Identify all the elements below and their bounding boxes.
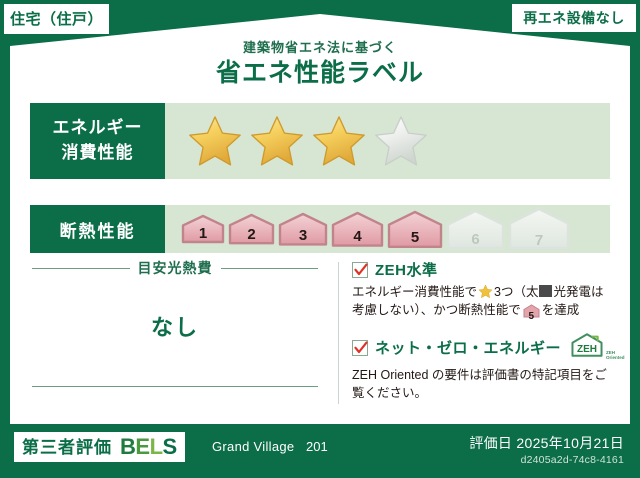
star-filled-icon bbox=[187, 114, 243, 168]
insulation-grade-chip: 1 bbox=[181, 214, 225, 244]
zeh-desc-part4: を達成 bbox=[542, 303, 580, 317]
insulation-grade-chip: 2 bbox=[228, 213, 275, 245]
zeh-standard-checkbox[interactable] bbox=[352, 262, 368, 278]
net-zero-energy-checkbox[interactable] bbox=[352, 340, 368, 356]
label-footer: 第三者評価 BELS Grand Village 201 評価日 2025年10… bbox=[0, 424, 640, 478]
zeh-desc-part2: 3つ（太 bbox=[494, 285, 538, 299]
zeh-standard-header: ZEH水準 bbox=[352, 259, 614, 280]
heading-rule-left bbox=[32, 268, 130, 269]
insulation-performance-row: 断熱性能 1234567 bbox=[30, 205, 610, 253]
star-filled-icon bbox=[311, 114, 367, 168]
bels-badge: 第三者評価 BELS bbox=[14, 432, 185, 462]
utility-cost-heading-text: 目安光熱費 bbox=[138, 258, 213, 278]
insulation-grade-number: 7 bbox=[508, 233, 570, 248]
insulation-grade-number: 5 bbox=[387, 230, 443, 245]
star-rating-meter bbox=[165, 103, 610, 179]
energy-label-line1: エネルギー bbox=[53, 116, 143, 141]
utility-cost-value: なし bbox=[32, 310, 318, 342]
building-name: Grand Village bbox=[212, 439, 294, 454]
insulation-grade-chip: 7 bbox=[508, 207, 570, 250]
energy-performance-row: エネルギー 消費性能 bbox=[30, 103, 610, 179]
star-empty-icon bbox=[373, 114, 429, 168]
bels-logo: BELS bbox=[120, 436, 177, 458]
energy-performance-label: 住宅（住戸） 再エネ設備なし 建築物省エネ法に基づく 省エネ性能ラベル エネルギ… bbox=[0, 0, 640, 478]
insulation-grade-number: 1 bbox=[181, 226, 225, 241]
energy-label-line2: 消費性能 bbox=[62, 141, 134, 166]
bels-third-party-text: 第三者評価 bbox=[22, 439, 112, 456]
evaluation-date: 評価日 2025年10月21日 bbox=[469, 433, 624, 453]
inline-grade-number: 5 bbox=[523, 312, 540, 322]
insulation-performance-label: 断熱性能 bbox=[30, 205, 165, 253]
room-number: 201 bbox=[306, 439, 328, 454]
star-filled-icon bbox=[249, 114, 305, 168]
redacted-character bbox=[539, 285, 552, 297]
insulation-grade-number: 3 bbox=[278, 228, 328, 243]
zeh-logo: ZEH ZEH Oriented bbox=[570, 332, 625, 363]
zeh-logo-text: ZEH bbox=[570, 345, 604, 355]
insulation-grade-chip: 3 bbox=[278, 212, 328, 246]
section-divider bbox=[338, 262, 339, 404]
energy-performance-label: エネルギー 消費性能 bbox=[30, 103, 165, 179]
zeh-notes-block: ZEH水準 エネルギー消費性能で3つ（太光発電は考慮しない）、かつ断熱性能で5を… bbox=[352, 259, 614, 403]
badge-renewable-equipment: 再エネ設備なし bbox=[512, 4, 636, 32]
zeh-standard-title: ZEH水準 bbox=[375, 259, 438, 280]
heading-rule-right bbox=[221, 268, 319, 269]
zeh-standard-item: ZEH水準 エネルギー消費性能で3つ（太光発電は考慮しない）、かつ断熱性能で5を… bbox=[352, 259, 614, 323]
zeh-logo-subtext: ZEH Oriented bbox=[606, 350, 625, 363]
zeh-desc-part1: エネルギー消費性能で bbox=[352, 285, 477, 299]
net-zero-energy-title: ネット・ゼロ・エネルギー bbox=[375, 337, 561, 358]
utility-cost-block: 目安光熱費 なし bbox=[32, 258, 318, 342]
insulation-grade-number: 6 bbox=[446, 232, 505, 247]
insulation-grade-chip: 6 bbox=[446, 209, 505, 250]
net-zero-energy-description: ZEH Oriented の要件は評価書の特記項目をご覧ください。 bbox=[352, 366, 614, 402]
insulation-grade-number: 4 bbox=[331, 229, 384, 244]
inline-grade-chip: 5 bbox=[523, 304, 540, 323]
evaluation-id: d2405a2d-74c8-4161 bbox=[521, 454, 624, 466]
utility-cost-heading: 目安光熱費 bbox=[32, 258, 318, 278]
insulation-grade-chip: 5 bbox=[387, 210, 443, 249]
net-zero-energy-header: ネット・ゼロ・エネルギー ZEH ZEH Oriented bbox=[352, 332, 614, 363]
badge-building-type: 住宅（住戸） bbox=[4, 4, 109, 34]
insulation-grade-chip: 4 bbox=[331, 211, 384, 248]
zeh-logo-sub-line2: Oriented bbox=[606, 355, 625, 360]
utility-cost-underline bbox=[32, 386, 318, 387]
inline-star-icon bbox=[478, 284, 493, 299]
insulation-grade-meter: 1234567 bbox=[165, 205, 610, 253]
net-zero-energy-item: ネット・ゼロ・エネルギー ZEH ZEH Oriented ZEH bbox=[352, 332, 614, 402]
zeh-standard-description: エネルギー消費性能で3つ（太光発電は考慮しない）、かつ断熱性能で5を達成 bbox=[352, 283, 614, 323]
insulation-grade-number: 2 bbox=[228, 227, 275, 242]
